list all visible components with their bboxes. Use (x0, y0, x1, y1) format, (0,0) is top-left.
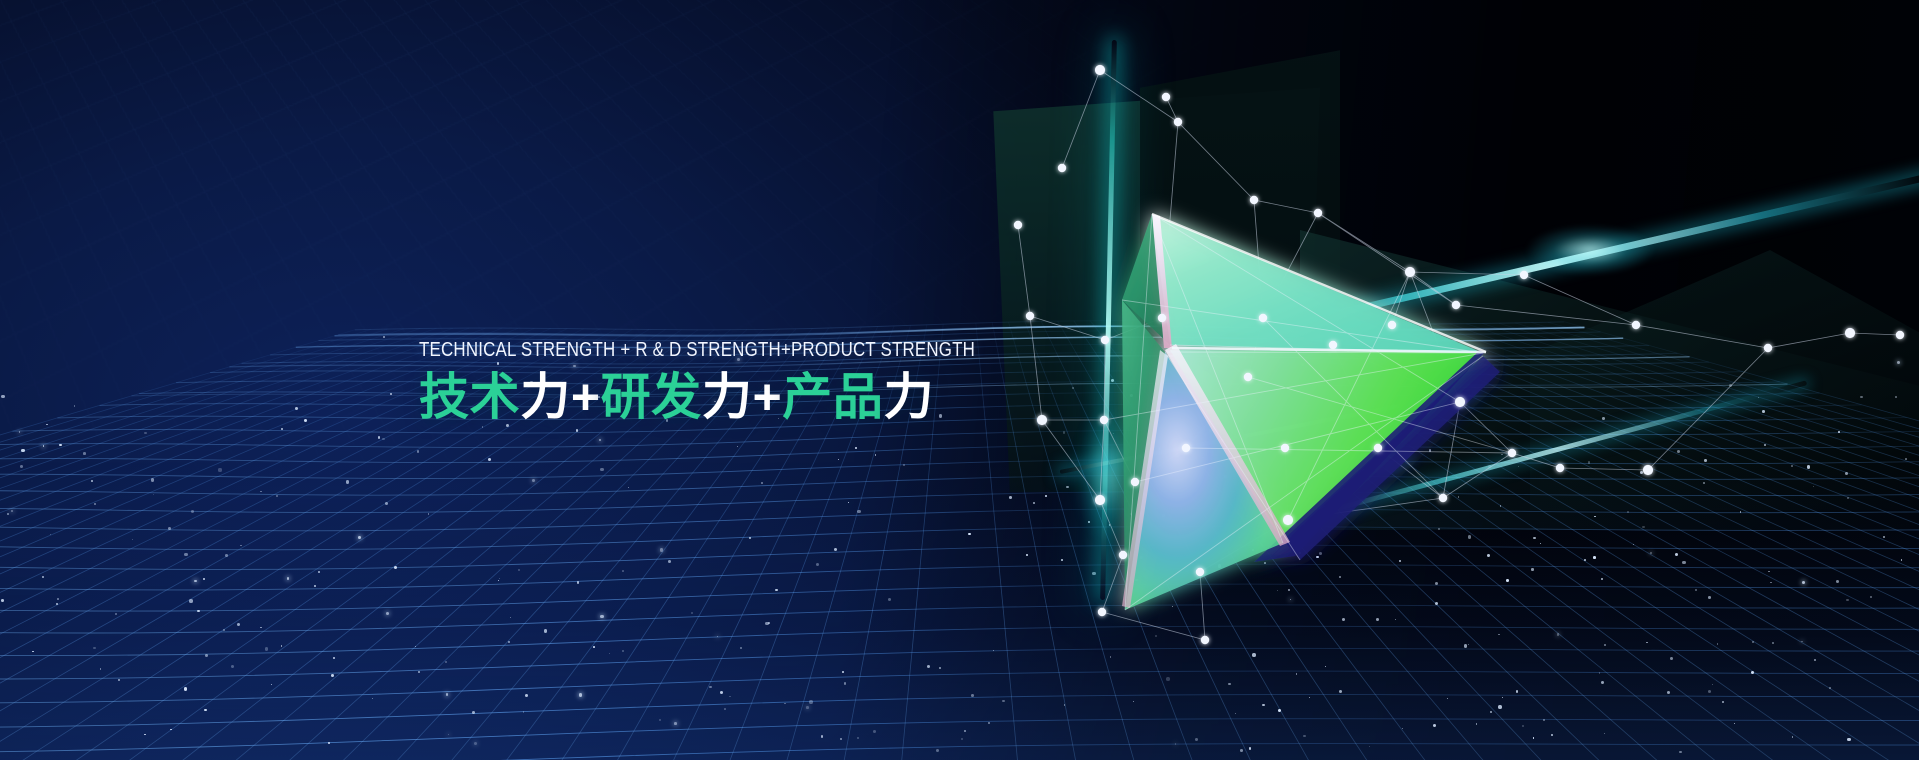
network-link (1410, 272, 1524, 275)
network-link (1512, 453, 1560, 468)
network-node (1250, 196, 1258, 204)
network-node (1014, 221, 1022, 229)
network-node (1026, 312, 1034, 320)
network-node (1098, 608, 1106, 616)
network-node (1158, 314, 1166, 322)
network-node (1095, 495, 1105, 505)
network-node (1162, 93, 1170, 101)
network-node (1058, 164, 1066, 172)
network-node (1643, 465, 1653, 475)
glass-prism-triangle (1122, 214, 1500, 610)
network-link (1102, 612, 1205, 640)
network-link (1456, 305, 1636, 325)
title-segment-6: 产品 (782, 369, 883, 425)
network-node (1374, 444, 1382, 452)
title-segment-5: + (752, 369, 782, 425)
network-node (1508, 449, 1516, 457)
title-segment-7: 力 (883, 369, 934, 425)
network-link (1200, 572, 1205, 640)
hero-banner: TECHNICAL STRENGTH + R & D STRENGTH+PROD… (0, 0, 1919, 760)
network-node (1439, 494, 1447, 502)
network-node (1095, 65, 1105, 75)
network-link (1560, 468, 1648, 470)
title-segment-4: 力 (702, 369, 753, 425)
network-node (1174, 118, 1182, 126)
title-segment-0: 技术 (419, 369, 520, 425)
network-node (1259, 314, 1267, 322)
network-link (1636, 325, 1768, 348)
network-link (1524, 275, 1636, 325)
title-segment-1: 力 (520, 369, 571, 425)
network-link (1100, 420, 1104, 500)
network-link (1042, 420, 1100, 500)
network-link (1768, 333, 1850, 348)
page-title: 技术力+研发力+产品力 (419, 369, 1077, 425)
title-segment-2: + (571, 369, 601, 425)
network-node (1201, 636, 1209, 644)
network-node (1520, 271, 1528, 279)
network-link (1648, 348, 1768, 470)
network-link (1254, 200, 1318, 213)
network-node (1455, 397, 1465, 407)
network-node (1119, 551, 1127, 559)
headline-block: TECHNICAL STRENGTH + R & D STRENGTH+PROD… (419, 340, 1077, 425)
network-node (1281, 444, 1289, 452)
network-node (1632, 321, 1640, 329)
network-node (1388, 321, 1396, 329)
network-link (1443, 453, 1512, 498)
network-link (1030, 316, 1105, 340)
network-node (1283, 515, 1293, 525)
network-link (1178, 122, 1254, 200)
network-node (1131, 478, 1139, 486)
network-link (1850, 333, 1900, 335)
headline-eyebrow: TECHNICAL STRENGTH + R & D STRENGTH+PROD… (419, 340, 975, 360)
network-node (1452, 301, 1460, 309)
network-node (1405, 267, 1415, 277)
network-node (1845, 328, 1855, 338)
network-node (1182, 444, 1190, 452)
network-link (1104, 340, 1105, 420)
network-node (1329, 341, 1337, 349)
network-node (1764, 344, 1772, 352)
title-segment-3: 研发 (601, 369, 702, 425)
network-node (1101, 336, 1109, 344)
network-link (1100, 500, 1123, 555)
network-node (1314, 209, 1322, 217)
network-link (1102, 555, 1123, 612)
network-node (1896, 331, 1904, 339)
network-node (1100, 416, 1108, 424)
network-node (1556, 464, 1564, 472)
network-link (1062, 70, 1100, 168)
network-node (1196, 568, 1204, 576)
network-node (1244, 373, 1252, 381)
network-link (1018, 225, 1030, 316)
